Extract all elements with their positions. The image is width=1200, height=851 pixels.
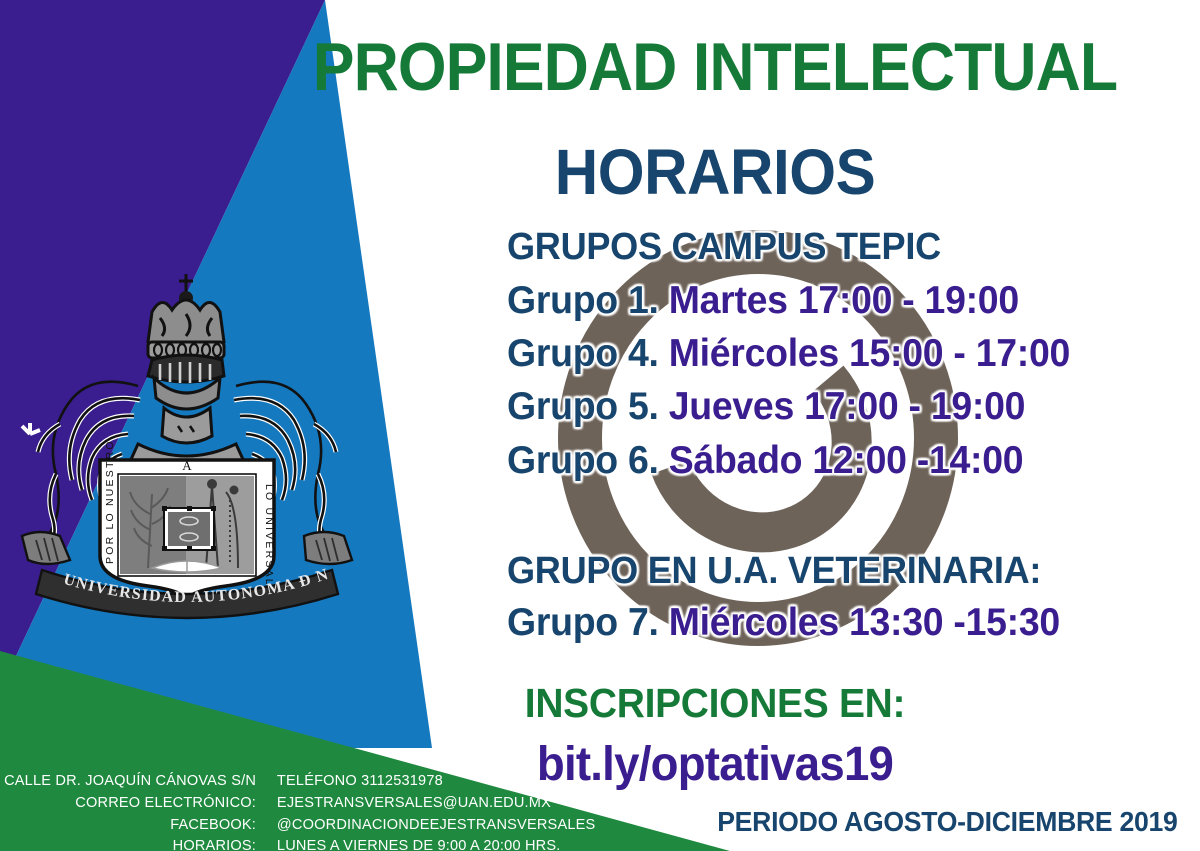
contact-table: CALLE DR. JOAQUÍN CÁNOVAS S/N TELÉFONO 3… — [0, 772, 600, 851]
contact-facebook-label: FACEBOOK: — [4, 816, 268, 838]
contact-row: CORREO ELECTRÓNICO: EJESTRANSVERSALES@UA… — [0, 794, 600, 816]
contact-phone-value: TELÉFONO 3112531978 — [277, 772, 596, 794]
schedule-row-grupo-4: Grupo 4. Miércoles 15:00 - 17:00 — [507, 334, 1070, 373]
contact-row: CALLE DR. JOAQUÍN CÁNOVAS S/N TELÉFONO 3… — [0, 772, 600, 794]
contact-email-label: CORREO ELECTRÓNICO: — [4, 794, 268, 816]
schedule-row-grupo-7: Grupo 7. Miércoles 13:30 -15:30 — [507, 603, 1060, 642]
group-timeslot: Miércoles 15:00 - 17:00 — [669, 332, 1070, 375]
schedule-row-grupo-6: Grupo 6. Sábado 12:00 -14:00 — [507, 441, 1023, 480]
group-label: Grupo 6. — [507, 439, 669, 482]
group-timeslot: Sábado 12:00 -14:00 — [669, 439, 1024, 482]
contact-address-label: CALLE DR. JOAQUÍN CÁNOVAS S/N — [4, 772, 268, 794]
group-label: Grupo 7. — [507, 601, 669, 644]
registration-label: INSCRIPCIONES EN: — [273, 683, 1157, 724]
contact-email-value[interactable]: EJESTRANSVERSALES@UAN.EDU.MX — [277, 794, 596, 816]
schedule-heading-veterinaria: GRUPO EN U.A. VETERINARIA: — [507, 552, 1041, 590]
group-timeslot: Miércoles 13:30 -15:30 — [669, 601, 1060, 644]
contact-hours-label: HORARIOS: — [4, 837, 268, 851]
schedule-row-grupo-5: Grupo 5. Jueves 17:00 - 19:00 — [507, 387, 1025, 426]
group-label: Grupo 1. — [507, 279, 669, 322]
contact-block: CALLE DR. JOAQUÍN CÁNOVAS S/N TELÉFONO 3… — [0, 772, 540, 851]
contact-hours-value: LUNES A VIERNES DE 9:00 A 20:00 HRS. — [277, 837, 596, 851]
contact-row: FACEBOOK: @COORDINACIONDEEJESTRANSVERSAL… — [0, 816, 600, 838]
contact-row: HORARIOS: LUNES A VIERNES DE 9:00 A 20:0… — [0, 837, 600, 851]
contact-facebook-value[interactable]: @COORDINACIONDEEJESTRANSVERSALES — [277, 816, 596, 838]
page-title: PROPIEDAD INTELECTUAL — [48, 33, 1152, 101]
group-label: Grupo 4. — [507, 332, 669, 375]
schedule-heading-tepic: GRUPOS CAMPUS TEPIC — [507, 228, 941, 266]
schedule-row-grupo-1: Grupo 1. Martes 17:00 - 19:00 — [507, 281, 1019, 320]
group-timeslot: Jueves 17:00 - 19:00 — [669, 385, 1025, 428]
period-label: PERIODO AGOSTO-DICIEMBRE 2019 — [718, 808, 1178, 836]
group-label: Grupo 5. — [507, 385, 669, 428]
page-subtitle: HORARIOS — [278, 140, 1152, 204]
group-timeslot: Martes 17:00 - 19:00 — [669, 279, 1019, 322]
poster-canvas: A POR LO NUESTRO LO UNIVERSAL UNIVERSIDA… — [0, 0, 1200, 851]
